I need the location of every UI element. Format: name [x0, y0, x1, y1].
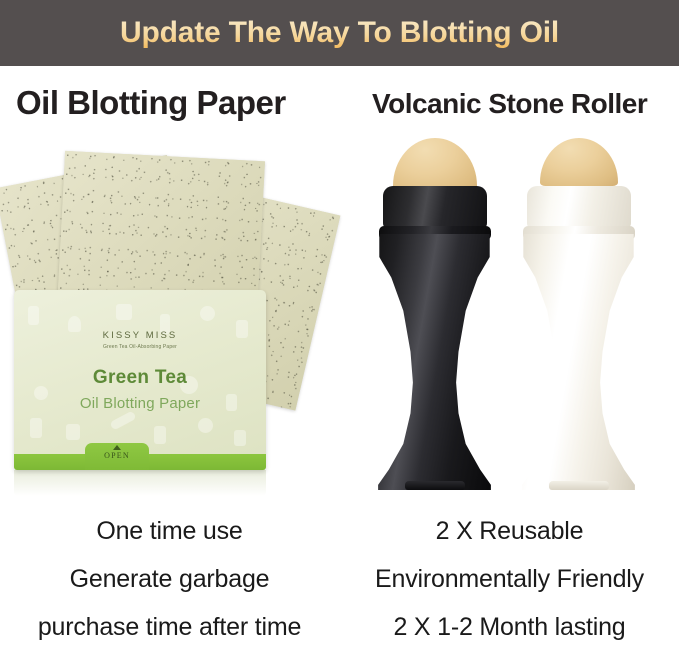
feature-line: 2 X Reusable — [436, 507, 584, 555]
feature-line: purchase time after time — [38, 603, 301, 651]
box-open-label: OPEN — [104, 451, 130, 460]
feature-list-stone-roller: 2 X Reusable Environmentally Friendly 2 … — [340, 507, 679, 651]
feature-line: Generate garbage — [70, 555, 270, 603]
blotting-paper-product-image: KISSY MISS Green Tea Oil-Absorbing Paper… — [0, 150, 345, 500]
volcanic-stone-roller-product-image — [345, 130, 679, 500]
box-brand-subtitle: Green Tea Oil-Absorbing Paper — [103, 344, 177, 350]
product-box-reflection — [14, 470, 266, 496]
roller-body — [519, 234, 639, 490]
volcanic-stone-dome — [393, 138, 477, 192]
box-brand-name: KISSY MISS — [103, 330, 178, 341]
white-volcanic-stone-roller — [511, 130, 646, 490]
feature-line: Environmentally Friendly — [375, 555, 644, 603]
feature-line: One time use — [96, 507, 242, 555]
roller-collar — [383, 186, 487, 230]
feature-list-blotting-paper: One time use Generate garbage purchase t… — [0, 507, 339, 651]
roller-base-seam — [405, 481, 465, 490]
section-heading-oil-blotting-paper: Oil Blotting Paper — [16, 84, 286, 122]
box-product-name: Green Tea — [93, 367, 187, 389]
feature-line: 2 X 1-2 Month lasting — [393, 603, 625, 651]
roller-base-seam — [549, 481, 609, 490]
blotting-paper-product-box: KISSY MISS Green Tea Oil-Absorbing Paper… — [14, 290, 266, 470]
header-banner: Update The Way To Blotting Oil — [0, 0, 679, 66]
triangle-up-icon — [113, 445, 121, 450]
box-open-tab: OPEN — [85, 443, 149, 470]
black-volcanic-stone-roller — [367, 130, 502, 490]
page-title: Update The Way To Blotting Oil — [0, 0, 679, 68]
box-product-subtitle: Oil Blotting Paper — [80, 395, 200, 412]
roller-body — [375, 234, 495, 490]
volcanic-stone-dome — [540, 138, 618, 186]
roller-collar — [527, 186, 631, 230]
section-heading-volcanic-stone-roller: Volcanic Stone Roller — [372, 88, 647, 120]
